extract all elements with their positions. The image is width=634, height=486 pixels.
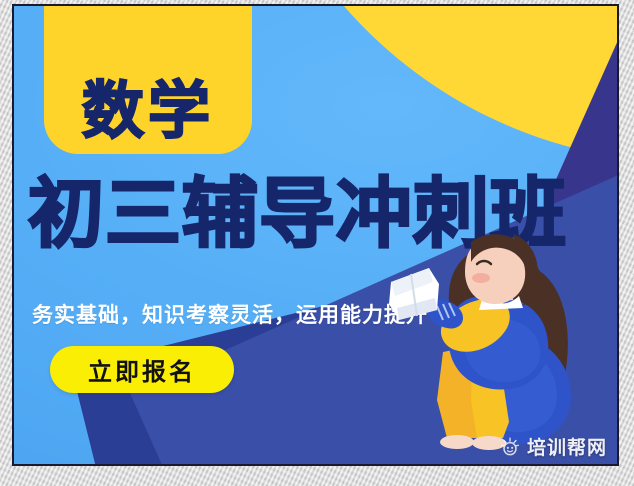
sun-face-icon bbox=[500, 437, 520, 457]
subject-badge-label: 数学 bbox=[82, 80, 214, 142]
watermark: 培训帮网 bbox=[494, 431, 613, 462]
subject-badge: 数学 bbox=[44, 4, 252, 154]
poster-root: 数学 初三辅导冲刺班 务实基础，知识考察灵活，运用能力提升 立即报名 bbox=[0, 0, 634, 486]
enroll-now-button[interactable]: 立即报名 bbox=[50, 346, 234, 393]
girl-reading-illustration bbox=[385, 224, 605, 454]
promo-banner: 数学 初三辅导冲刺班 务实基础，知识考察灵活，运用能力提升 立即报名 bbox=[12, 4, 619, 466]
watermark-text: 培训帮网 bbox=[527, 433, 607, 460]
tagline: 务实基础，知识考察灵活，运用能力提升 bbox=[32, 299, 428, 329]
